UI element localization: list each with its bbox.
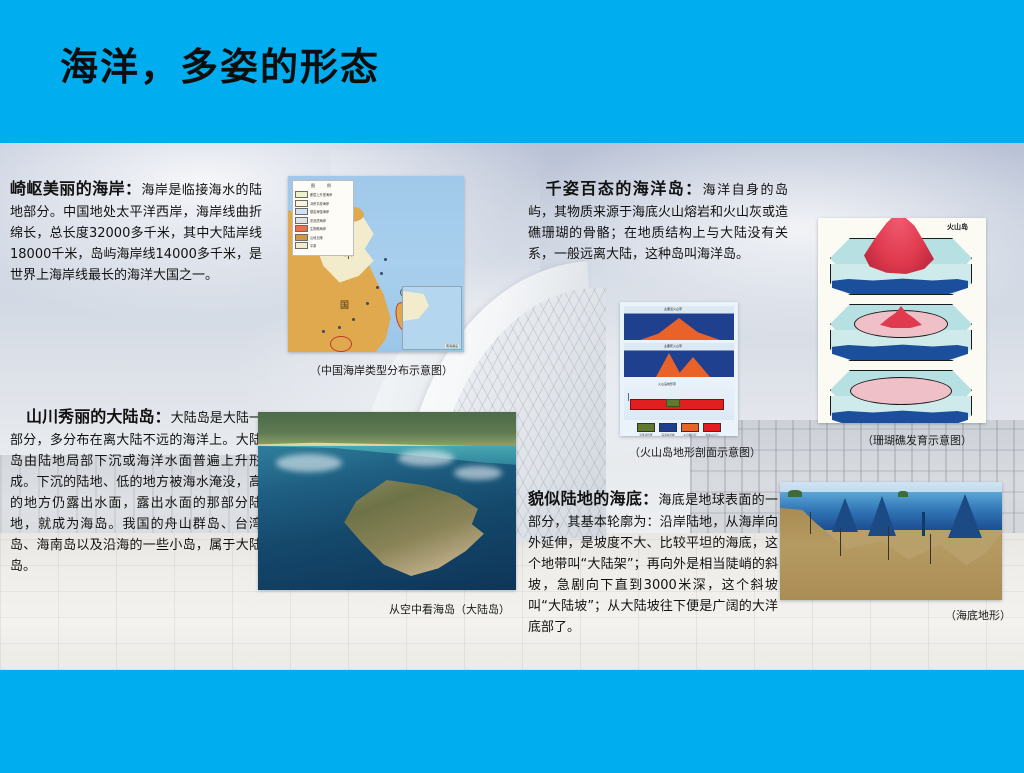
legend-row: 基岩海蚀海岸 (295, 208, 351, 215)
figure-caption-seafloor: （海底地形） (945, 607, 1011, 623)
legend-label: 岩浆房位置 (637, 433, 655, 436)
legend-item: 火山熔岩层 (681, 423, 699, 436)
volcano-cone-secondary (676, 357, 710, 377)
coral-stage-stack (826, 224, 978, 420)
legend-row: 冲积平原海岸 (295, 200, 351, 207)
section-seabed-body: 海底是地球表面的一部分，其基本轮廓为：沿岸陆地，从海岸向外延伸，是坡度不大、比较… (528, 493, 778, 635)
figure-caption-aerial: 从空中看海岛（大陆岛） (389, 601, 510, 617)
legend-title: 图 例 (295, 183, 351, 189)
legend-label: 生物礁海岸 (310, 226, 326, 231)
legend-label: 基岩海蚀海岸 (310, 209, 329, 214)
legend-swatch (681, 423, 699, 432)
figure-caption-coral: （珊瑚礁发育示意图） (862, 432, 972, 448)
legend-item: 中央火山口 (703, 423, 721, 436)
volcano-section-image: 主要活火山带 主要死火山带 火山岛地形带 岩浆房位置 深海海盆地 火山熔岩层 中… (620, 302, 738, 436)
volcano-panel-lower: 火山岛地形带 (624, 380, 734, 420)
legend-label: 火山熔岩层 (681, 433, 699, 436)
legend-swatch (703, 423, 721, 432)
map-legend: 图 例 断层上升型海岸 冲积平原海岸 基岩海蚀海岸 淤泥质海岸 生物礁海岸 山地… (292, 180, 354, 256)
footer-band (0, 670, 1024, 773)
legend-swatch (295, 242, 308, 249)
volcano-panel-upper: 主要活火山带 (624, 306, 734, 340)
ocean-trench (922, 512, 925, 536)
panel-label: 主要活火山带 (664, 307, 682, 311)
photo-cloud (454, 466, 502, 480)
legend-swatch (295, 217, 308, 224)
legend-swatch (659, 423, 677, 432)
legend-row: 山地丘陵 (295, 234, 351, 241)
legend-row: 平原 (295, 242, 351, 249)
section-coast-body: 海岸是临接海水的陆地部分。中国地处太平洋西岸，海岸线曲折绵长，总长度32000多… (10, 183, 262, 283)
section-oceanic-island: 千姿百态的海洋岛：海洋自身的岛屿，其物质来源于海底火山熔岩和火山灰或造礁珊瑚的骨… (528, 176, 788, 265)
map-label-guo: 国 (340, 298, 349, 311)
section-continental-island: 山川秀丽的大陆岛：大陆岛是大陆一部分，多分布在离大陆不远的海洋上。大陆岛由陆地局… (10, 404, 262, 577)
legend-label: 中央火山口 (703, 433, 721, 436)
figure-volcano-section: 主要活火山带 主要死火山带 火山岛地形带 岩浆房位置 深海海盆地 火山熔岩层 中… (620, 302, 738, 436)
seafloor-image (780, 482, 1002, 600)
volcano-cone (656, 353, 682, 377)
section-seabed: 貌似陆地的海底：海底是地球表面的一部分，其基本轮廓为：沿岸陆地，从海岸向外延伸，… (528, 486, 778, 638)
annotation-leader (930, 534, 931, 564)
volcano-cone (650, 318, 708, 340)
legend-row: 断层上升型海岸 (295, 191, 351, 198)
reef-water (832, 344, 968, 360)
coral-stage-barrier (830, 304, 970, 366)
section-continental-island-body: 大陆岛是大陆一部分，多分布在离大陆不远的海洋上。大陆岛由陆地局部下沉或海洋水面普… (10, 411, 262, 574)
panel-label: 主要死火山带 (664, 344, 682, 348)
legend-swatch (295, 191, 308, 198)
coral-reef-image: 火山岛 (818, 218, 986, 423)
inset-landmass (403, 291, 429, 321)
legend-label: 平原 (310, 243, 316, 248)
aerial-island-photo (258, 412, 516, 590)
section-continental-island-lead: 山川秀丽的大陆岛： (26, 407, 171, 426)
photo-far-shore (258, 412, 516, 446)
legend-item: 岩浆房位置 (637, 423, 655, 436)
magma-chamber (666, 399, 680, 407)
map-inset-south-sea: 南海诸岛 (402, 286, 462, 350)
page-title: 海洋，多姿的形态 (60, 36, 380, 91)
legend-label: 淤泥质海岸 (310, 218, 326, 223)
legend-swatch (295, 208, 308, 215)
figure-caption-china-map: （中国海岸类型分布示意图） (310, 362, 453, 378)
legend-swatch (637, 423, 655, 432)
legend-label: 冲积平原海岸 (310, 201, 329, 206)
legend-swatch (295, 225, 308, 232)
legend-swatch (295, 200, 308, 207)
legend-row: 淤泥质海岸 (295, 217, 351, 224)
coastal-landmass (788, 490, 802, 497)
map-dot (322, 330, 325, 333)
legend-swatch (295, 234, 308, 241)
section-coast: 崎岖美丽的海岸：海岸是临接海水的陆地部分。中国地处太平洋西岸，海岸线曲折绵长，总… (10, 176, 262, 286)
figure-aerial-island: 从空中看海岛（大陆岛） (258, 412, 516, 590)
annotation-leader (840, 528, 841, 556)
figure-china-coast-map: 中 国 图 例 断层上升型海岸 冲积平原海岸 基岩海蚀海岸 淤泥质海岸 生物礁海… (288, 176, 464, 352)
atoll-lagoon (850, 377, 952, 405)
legend-label: 断层上升型海岸 (310, 192, 332, 197)
volcano-legend: 岩浆房位置 深海海盆地 火山熔岩层 中央火山口 (624, 423, 734, 436)
legend-label: 山地丘陵 (310, 235, 323, 240)
section-oceanic-island-lead: 千姿百态的海洋岛： (544, 179, 703, 198)
annotation-leader (888, 526, 889, 560)
panel-label: 火山岛地形带 (658, 382, 676, 386)
volcanic-cone (864, 218, 934, 274)
figure-seafloor-topography: （海底地形） (780, 482, 1002, 600)
map-dot (366, 302, 369, 305)
map-dot (380, 272, 383, 275)
map-dot (338, 326, 341, 329)
figure-caption-volcano: （火山岛地形剖面示意图） (629, 444, 761, 460)
poster-root: 海洋，多姿的形态 崎岖美丽的海岸：海岸是临接海水的陆地部分。中国地处太平洋西岸，… (0, 0, 1024, 773)
map-dot (384, 258, 387, 261)
photo-cloud (276, 454, 342, 472)
section-coast-lead: 崎岖美丽的海岸： (10, 179, 142, 198)
coral-stage-atoll (830, 370, 970, 423)
reef-water (832, 278, 968, 294)
china-map-image: 中 国 图 例 断层上升型海岸 冲积平原海岸 基岩海蚀海岸 淤泥质海岸 生物礁海… (288, 176, 464, 352)
map-dot (352, 318, 355, 321)
volcanic-island (898, 491, 908, 497)
annotation-leader (810, 512, 811, 534)
legend-item: 深海海盆地 (659, 423, 677, 436)
coral-stage-fringing (830, 238, 970, 300)
photo-cloud (398, 450, 454, 466)
legend-label: 深海海盆地 (659, 433, 677, 436)
section-seabed-lead: 貌似陆地的海底： (528, 489, 659, 508)
volcano-panel-middle: 主要死火山带 (624, 343, 734, 377)
inset-label: 南海诸岛 (445, 344, 459, 348)
map-dot (376, 286, 379, 289)
map-hainan-island (330, 336, 352, 352)
legend-row: 生物礁海岸 (295, 225, 351, 232)
reef-water (832, 410, 968, 423)
figure-coral-reef: 火山岛 (818, 218, 986, 423)
